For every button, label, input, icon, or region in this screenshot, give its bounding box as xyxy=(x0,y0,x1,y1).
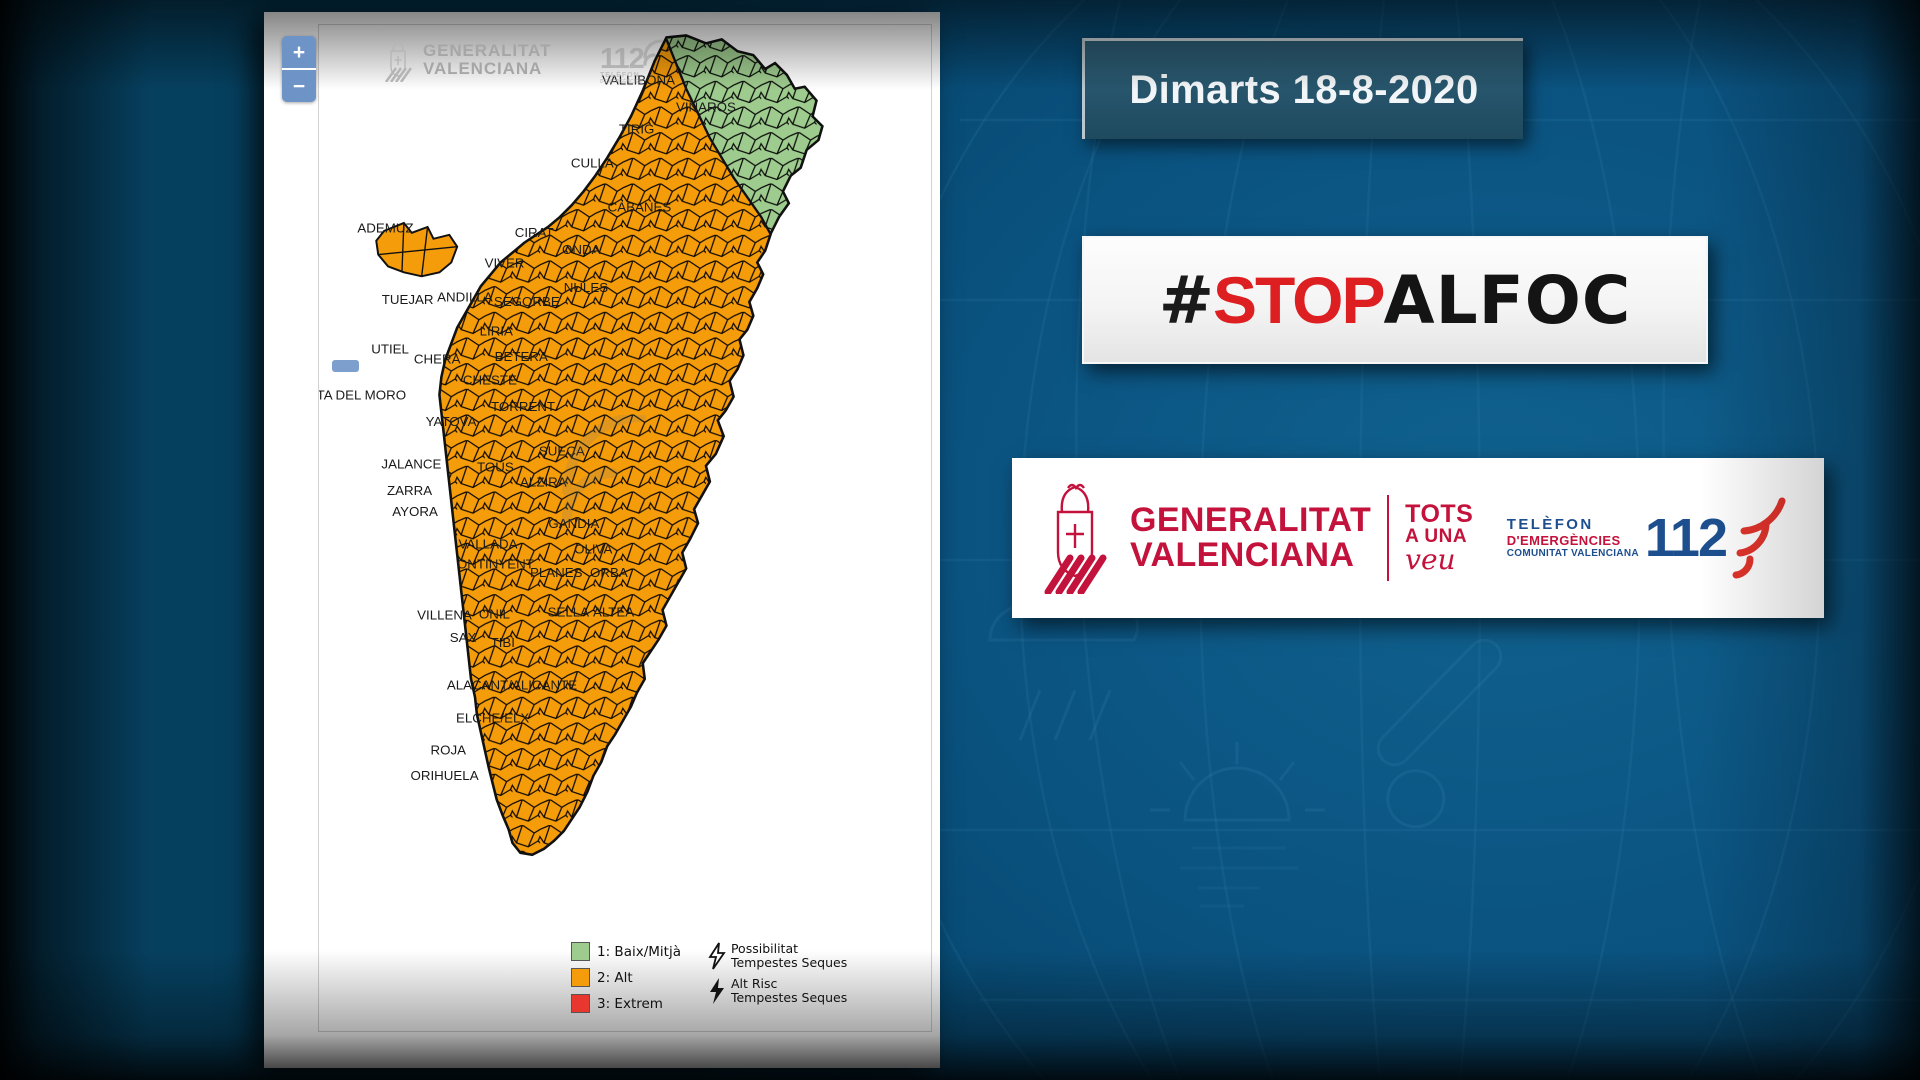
municipality-label: BETERA xyxy=(495,349,548,364)
storm-possible-line2: Tempestes Seques xyxy=(731,956,847,970)
emergency-112-text: TELÈFON D'EMERGÈNCIES COMUNITAT VALENCIA… xyxy=(1507,517,1639,560)
lightning-solid-icon xyxy=(707,977,727,1005)
storm-highrisk-line1: Alt Risc xyxy=(731,977,847,991)
municipality-label: ALZIRA xyxy=(520,474,567,489)
map-header-112-logo: 112 TELÈFON D'EMERGÈNCIES xyxy=(600,36,674,91)
slogan-line3: veu xyxy=(1405,546,1473,574)
legend-storm-highrisk: Alt Risc Tempestes Seques xyxy=(707,977,847,1005)
svg-text:D'EMERGÈNCIES: D'EMERGÈNCIES xyxy=(600,77,642,85)
municipality-label: UTIEL xyxy=(371,341,409,356)
municipality-label: ONDA xyxy=(562,242,601,257)
municipality-label: OLIVA xyxy=(574,541,612,556)
legend-label-2: 2: Alt xyxy=(597,970,633,986)
slide-stage: + − GENERALITAT VALENCIANA 112 xyxy=(0,0,1920,1080)
gva-head-line1: GENERALITAT xyxy=(423,42,551,60)
municipality-label: PLANES xyxy=(530,565,583,580)
map-header-gva-logo: GENERALITAT VALENCIANA xyxy=(384,38,551,82)
municipality-label: ONTINYENT xyxy=(457,557,534,572)
gva-shield-logo-icon xyxy=(1042,482,1114,594)
legend-storms: Possibilitat Tempestes Seques Alt Risc T… xyxy=(707,942,847,1013)
municipality-label: SUECA xyxy=(539,443,585,458)
gva-head-line2: VALENCIANA xyxy=(423,60,551,78)
lightning-outline-icon xyxy=(707,942,727,970)
hashtag-symbol: # xyxy=(1159,268,1213,334)
gva-banner-line2: VALENCIANA xyxy=(1130,538,1371,573)
municipality-label: ONIL xyxy=(479,607,510,622)
legend-label-1: 1: Baix/Mitjà xyxy=(597,944,681,960)
municipality-label: SEGORBE xyxy=(494,294,560,309)
date-text: Dimarts 18-8-2020 xyxy=(1129,68,1478,113)
municipality-label: TOUS xyxy=(477,459,514,474)
municipality-label: ZARRA xyxy=(387,483,432,498)
legend-level-1: 1: Baix/Mitjà xyxy=(571,942,681,961)
gva-banner-words: GENERALITAT VALENCIANA xyxy=(1130,503,1371,572)
municipality-label: VILLENA xyxy=(417,608,472,623)
municipality-label: LIRIA xyxy=(480,323,513,338)
municipality-label: CULLA xyxy=(571,155,614,170)
tel-line3: COMUNITAT VALENCIANA xyxy=(1507,548,1639,559)
gva-shield-icon xyxy=(384,38,414,82)
municipality-label: TUEJAR xyxy=(382,292,434,307)
map-viewport[interactable]: VALLIBONAVINAROSTIRIGCULLACABANESADEMUZC… xyxy=(318,24,932,1032)
tel-line1: TELÈFON xyxy=(1507,517,1639,534)
legend-levels: 1: Baix/Mitjà 2: Alt 3: Extrem xyxy=(571,942,681,1013)
municipality-label: ORIHUELA xyxy=(411,768,479,783)
municipality-label: CIRAT xyxy=(515,225,554,240)
municipality-label: ORBA xyxy=(590,565,628,580)
generalitat-banner: GENERALITAT VALENCIANA TOTS A UNA veu TE… xyxy=(1012,458,1824,618)
map-scale-chip[interactable] xyxy=(332,360,359,372)
slogan-line1: TOTS xyxy=(1405,502,1473,527)
municipality-label: VALLADA xyxy=(459,537,518,552)
zoom-out-button[interactable]: − xyxy=(282,70,316,102)
municipality-label: ELCHE/ELX xyxy=(456,710,529,725)
municipality-label: VENTA DEL MORO xyxy=(319,388,406,403)
legend-swatch-3 xyxy=(571,994,590,1013)
storm-possible-line1: Possibilitat xyxy=(731,942,847,956)
tel-line2: D'EMERGÈNCIES xyxy=(1507,534,1639,549)
tel-number-112: 112 xyxy=(1645,514,1726,563)
municipality-label: VIVER xyxy=(485,255,525,270)
municipality-label: TIBI xyxy=(491,635,515,650)
municipality-label: ALACANT/ALICANTE xyxy=(447,677,577,692)
hashtag-alfoc-text: ALFOC xyxy=(1384,268,1632,334)
legend-level-3: 3: Extrem xyxy=(571,994,681,1013)
municipality-label: TIRIG xyxy=(619,121,655,136)
svg-text:TELÈFON: TELÈFON xyxy=(600,70,640,79)
municipality-label: VINAROS xyxy=(676,100,736,115)
municipality-label: CABANES xyxy=(608,200,672,215)
municipality-label: JALANCE xyxy=(381,456,441,471)
storm-highrisk-line2: Tempestes Seques xyxy=(731,991,847,1005)
legend-swatch-1 xyxy=(571,942,590,961)
map-zoom-controls[interactable]: + − xyxy=(282,36,316,102)
legend-storm-possible: Possibilitat Tempestes Seques xyxy=(707,942,847,970)
zoom-in-button[interactable]: + xyxy=(282,36,316,70)
municipality-label: ADEMUZ xyxy=(357,220,413,235)
comunitat-valenciana-risk-map[interactable]: VALLIBONAVINAROSTIRIGCULLACABANESADEMUZC… xyxy=(319,25,931,1031)
gva-divider xyxy=(1387,495,1389,581)
signal-waves-icon xyxy=(1732,495,1794,581)
municipality-label: ROJA xyxy=(431,743,467,758)
date-banner: Dimarts 18-8-2020 xyxy=(1082,38,1523,139)
municipality-label: TORRENT xyxy=(491,399,555,414)
map-header-gva-text: GENERALITAT VALENCIANA xyxy=(423,42,551,77)
legend-label-3: 3: Extrem xyxy=(597,996,663,1012)
municipality-label: SAX xyxy=(450,630,477,645)
municipality-label: GANDIA xyxy=(548,516,599,531)
municipality-label: NULES xyxy=(564,280,609,295)
municipality-label: AYORA xyxy=(392,504,438,519)
municipality-label: YATOVA xyxy=(426,414,477,429)
municipality-label: CHERA xyxy=(414,352,461,367)
risk-map-panel: + − GENERALITAT VALENCIANA 112 xyxy=(264,12,940,1068)
municipality-label: SELLA xyxy=(548,605,590,620)
hashtag-stop-text: STOP xyxy=(1213,267,1384,333)
map-legend: 1: Baix/Mitjà 2: Alt 3: Extrem xyxy=(571,942,847,1013)
legend-level-2: 2: Alt xyxy=(571,968,681,987)
municipality-label: CHESTE xyxy=(463,372,517,387)
gva-slogan: TOTS A UNA veu xyxy=(1405,502,1473,574)
gva-banner-line1: GENERALITAT xyxy=(1130,503,1371,538)
svg-text:112: 112 xyxy=(600,43,644,75)
municipality-label: ANDILLA xyxy=(437,289,493,304)
legend-swatch-2 xyxy=(571,968,590,987)
emergency-112-logo: TELÈFON D'EMERGÈNCIES COMUNITAT VALENCIA… xyxy=(1507,495,1794,581)
municipality-label: ALTEA xyxy=(593,605,634,620)
hashtag-banner: # STOP ALFOC xyxy=(1082,236,1708,364)
